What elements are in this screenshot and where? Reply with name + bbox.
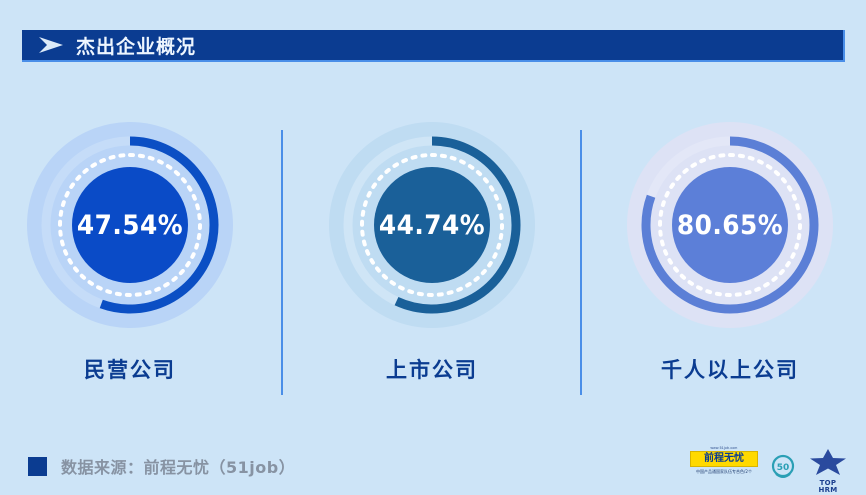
column-divider-2 xyxy=(580,130,582,395)
donut-chart-3: 80.65% xyxy=(615,110,845,340)
chart-label-2: 上市公司 xyxy=(302,354,562,384)
arrow-right-icon xyxy=(38,36,64,54)
donut-charts-row: 47.54% 民营公司 44.74% 上市公司 xyxy=(0,100,866,410)
page-title: 杰出企业概况 xyxy=(76,32,196,59)
donut-value-1: 47.54% xyxy=(24,110,236,340)
footer-logos: www.51job.com 前程无忧 中国产品通国家队伍专合色/2个 50 TO… xyxy=(690,446,848,494)
circle-seal-logo: 50 xyxy=(768,452,798,487)
svg-text:50: 50 xyxy=(777,463,790,473)
donut-value-2: 44.74% xyxy=(326,110,538,340)
source-text: 数据来源：前程无忧（51job） xyxy=(61,454,295,478)
source-swatch-icon xyxy=(28,457,47,476)
column-divider-1 xyxy=(281,130,283,395)
job51-sub-text: 中国产品通国家队伍专合色/2个 xyxy=(690,469,758,475)
job51-logo: www.51job.com 前程无忧 中国产品通国家队伍专合色/2个 xyxy=(690,446,758,475)
donut-value-3: 80.65% xyxy=(624,110,836,340)
chart-column-large-companies: 80.65% 千人以上公司 xyxy=(600,100,860,410)
data-source-note: 数据来源：前程无忧（51job） xyxy=(28,454,295,478)
top-hrm-logo: TOP HRM xyxy=(808,449,848,494)
star-icon xyxy=(808,449,848,475)
chart-column-listed-companies: 44.74% 上市公司 xyxy=(302,100,562,410)
circle-seal-icon: 50 xyxy=(768,452,798,482)
section-footer: 数据来源：前程无忧（51job） www.51job.com 前程无忧 中国产品… xyxy=(0,440,866,495)
chart-label-1: 民营公司 xyxy=(0,354,260,384)
section-header-bar: 杰出企业概况 xyxy=(22,30,845,62)
job51-brand-text: 前程无忧 xyxy=(690,451,758,467)
donut-chart-2: 44.74% xyxy=(317,110,547,340)
chart-label-3: 千人以上公司 xyxy=(600,354,860,384)
chart-column-private-companies: 47.54% 民营公司 xyxy=(0,100,260,410)
donut-chart-1: 47.54% xyxy=(15,110,245,340)
top-hrm-line2: HRM xyxy=(808,487,848,494)
